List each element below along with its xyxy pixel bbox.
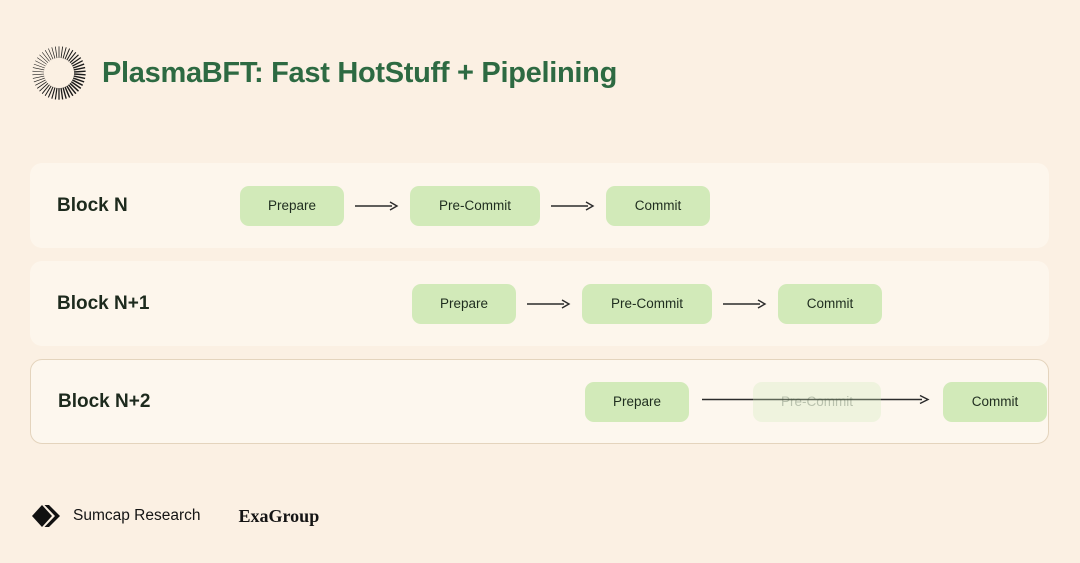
pipeline-rows: Block N Prepare Pre-Commit Commit	[30, 163, 1049, 457]
row-label: Block N	[57, 195, 128, 217]
stage-flow: Prepare Pre-Commit Commit	[412, 283, 882, 325]
stage-prepare[interactable]: Prepare	[412, 284, 516, 324]
arrow-right-icon	[354, 199, 400, 213]
diamond-chevron-icon	[30, 503, 64, 529]
stage-commit[interactable]: Commit	[943, 382, 1047, 422]
stage-pre-commit[interactable]: Pre-Commit	[410, 186, 540, 226]
arrow-right-icon	[722, 297, 768, 311]
stage-prepare[interactable]: Prepare	[240, 186, 344, 226]
pipeline-row-block-n2: Block N+2 Prepare Pre-Commit Commit	[30, 359, 1049, 444]
arrow-right-icon	[526, 297, 572, 311]
slide-canvas: PlasmaBFT: Fast HotStuff + Pipelining Bl…	[0, 0, 1080, 563]
page-title: PlasmaBFT: Fast HotStuff + Pipelining	[102, 57, 617, 90]
long-transition: Pre-Commit	[701, 381, 931, 423]
stage-flow: Prepare Pre-Commit Commit	[240, 185, 710, 227]
row-label: Block N+2	[58, 391, 150, 413]
stage-pre-commit[interactable]: Pre-Commit	[582, 284, 712, 324]
stage-flow: Prepare Pre-Commit Commit	[585, 381, 1047, 423]
brand-secondary-label: ExaGroup	[239, 506, 320, 527]
arrow-right-icon	[550, 199, 596, 213]
stage-prepare[interactable]: Prepare	[585, 382, 689, 422]
pipeline-row-block-n: Block N Prepare Pre-Commit Commit	[30, 163, 1049, 248]
header: PlasmaBFT: Fast HotStuff + Pipelining	[30, 44, 617, 102]
sunburst-ring-icon	[30, 44, 88, 102]
brand-sumcap: Sumcap Research	[30, 503, 201, 529]
pipeline-row-block-n1: Block N+1 Prepare Pre-Commit Commit	[30, 261, 1049, 346]
stage-commit[interactable]: Commit	[606, 186, 710, 226]
brand-primary-label: Sumcap Research	[73, 507, 201, 525]
footer: Sumcap Research ExaGroup	[30, 503, 319, 529]
stage-commit[interactable]: Commit	[778, 284, 882, 324]
row-label: Block N+1	[57, 293, 149, 315]
stage-pre-commit-ghost: Pre-Commit	[753, 382, 881, 422]
